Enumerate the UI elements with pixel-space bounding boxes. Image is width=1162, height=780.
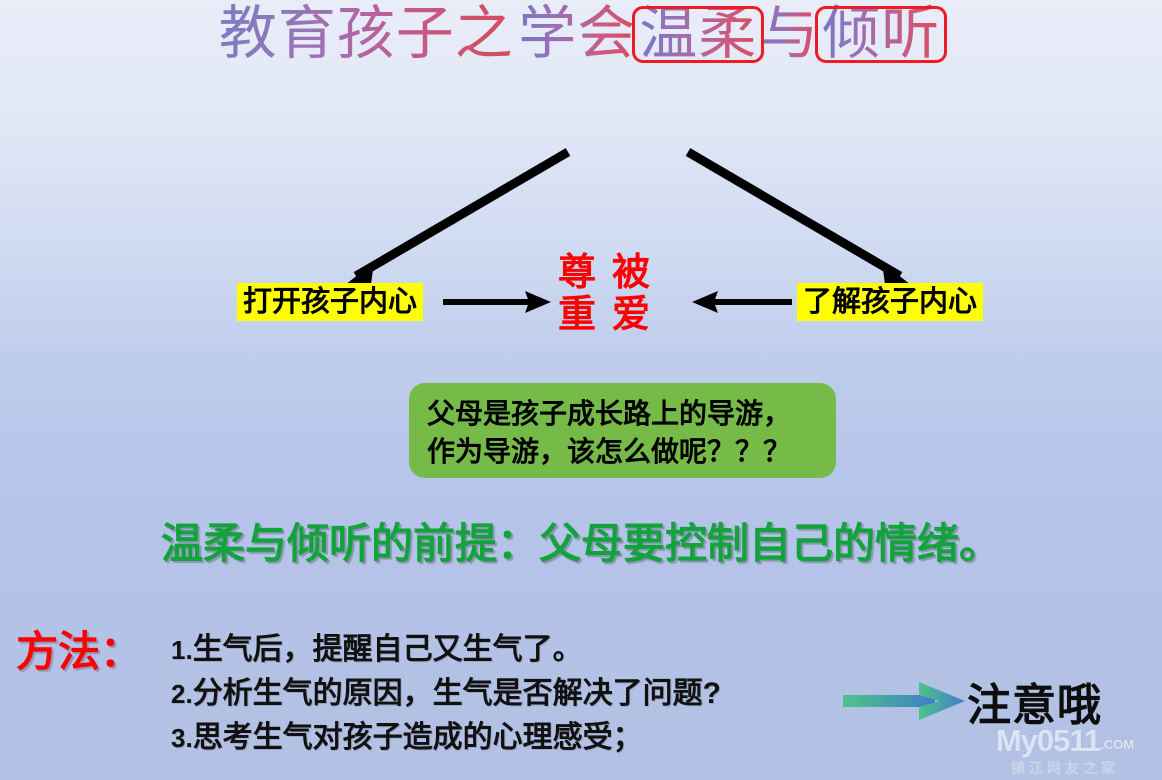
premise-headline: 温柔与倾听的前提：父母要控制自己的情绪。 [0,510,1162,571]
method-text-2: 分析生气的原因，生气是否解决了问题? [193,677,721,710]
title-conjunction: 与 [760,4,819,63]
callout-box: 父母是孩子成长路上的导游， 作为导游，该怎么做呢？？？ [409,383,836,478]
method-item-1: 1.生气后，提醒自己又生气了。 [171,628,871,672]
title-boxed-gentleness: 温柔 [636,4,760,63]
title-line-2: 学会温柔与倾听 [518,4,943,63]
arrow-left-to-center [692,287,792,317]
method-number-2: 2. [171,679,193,709]
method-text-1: 生气后，提醒自己又生气了。 [193,633,583,666]
methods-list: 1.生气后，提醒自己又生气了。 2.分析生气的原因，生气是否解决了问题? 3.思… [171,628,871,760]
arrow-right-to-center [443,287,553,317]
method-number-1: 1. [171,635,193,665]
methods-label: 方法： [16,618,142,679]
notice-text: 注意哦 [967,669,1102,733]
highlight-box-open-heart: 打开孩子内心 [237,283,423,321]
method-item-3: 3.思考生气对孩子造成的心理感受； [171,716,871,760]
diagonal-arrow-left [320,140,580,305]
watermark-subtitle: 镇江网友之家 [975,760,1155,777]
callout-line-1: 父母是孩子成长路上的导游， [427,395,818,433]
title-line-1: 教育孩子之 [219,4,514,63]
slide-title: 教育孩子之 学会温柔与倾听 [0,4,1162,63]
center-keywords: 尊 重 被 爱 [558,252,650,336]
title-boxed-listening: 倾听 [819,4,943,63]
highlight-box-understand-heart: 了解孩子内心 [797,283,983,321]
method-text-3: 思考生气对孩子造成的心理感受； [193,721,643,754]
callout-line-2: 作为导游，该怎么做呢？？？ [427,433,818,471]
diagonal-arrow-right [676,140,936,305]
method-number-3: 3. [171,723,193,753]
title-prefix: 学会 [518,4,636,63]
watermark: My0511.COM 镇江网友之家 [975,726,1155,777]
keyword-respect: 尊 重 [558,252,596,336]
notice-gradient-arrow [843,680,968,722]
slide-canvas: 教育孩子之 学会温柔与倾听 打开孩子内心 了解孩子内心 尊 重 被 爱 [0,0,1162,780]
method-item-2: 2.分析生气的原因，生气是否解决了问题? [171,672,871,716]
keyword-loved: 被 爱 [612,252,650,336]
watermark-tld: .COM [1100,737,1134,752]
